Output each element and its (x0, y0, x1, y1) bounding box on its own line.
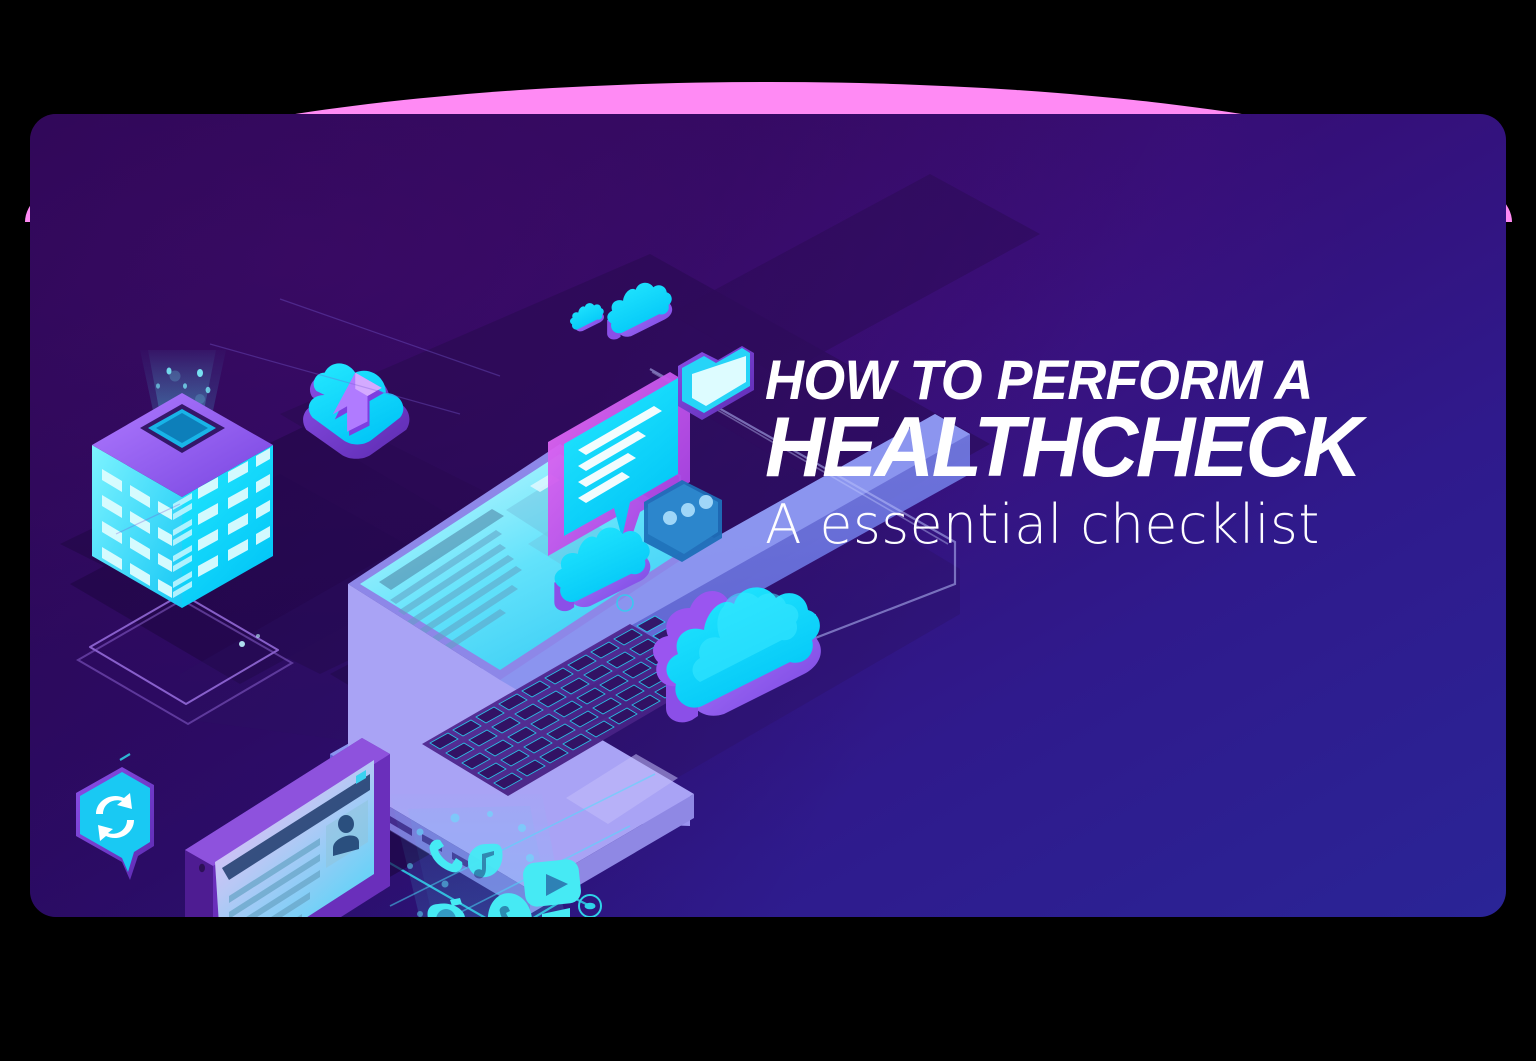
app-icon-video-play (522, 858, 582, 908)
subtitle: A essential checklist (765, 494, 1498, 556)
headline-block: HOW TO PERFORM A HEALTHCHECK A essential… (765, 350, 1505, 556)
title-line-2: HEALTHCHECK (765, 406, 1483, 490)
banner-card: HOW TO PERFORM A HEALTHCHECK A essential… (30, 114, 1506, 917)
sync-icon (76, 767, 154, 880)
banner-canvas: HOW TO PERFORM A HEALTHCHECK A essential… (0, 0, 1536, 1061)
